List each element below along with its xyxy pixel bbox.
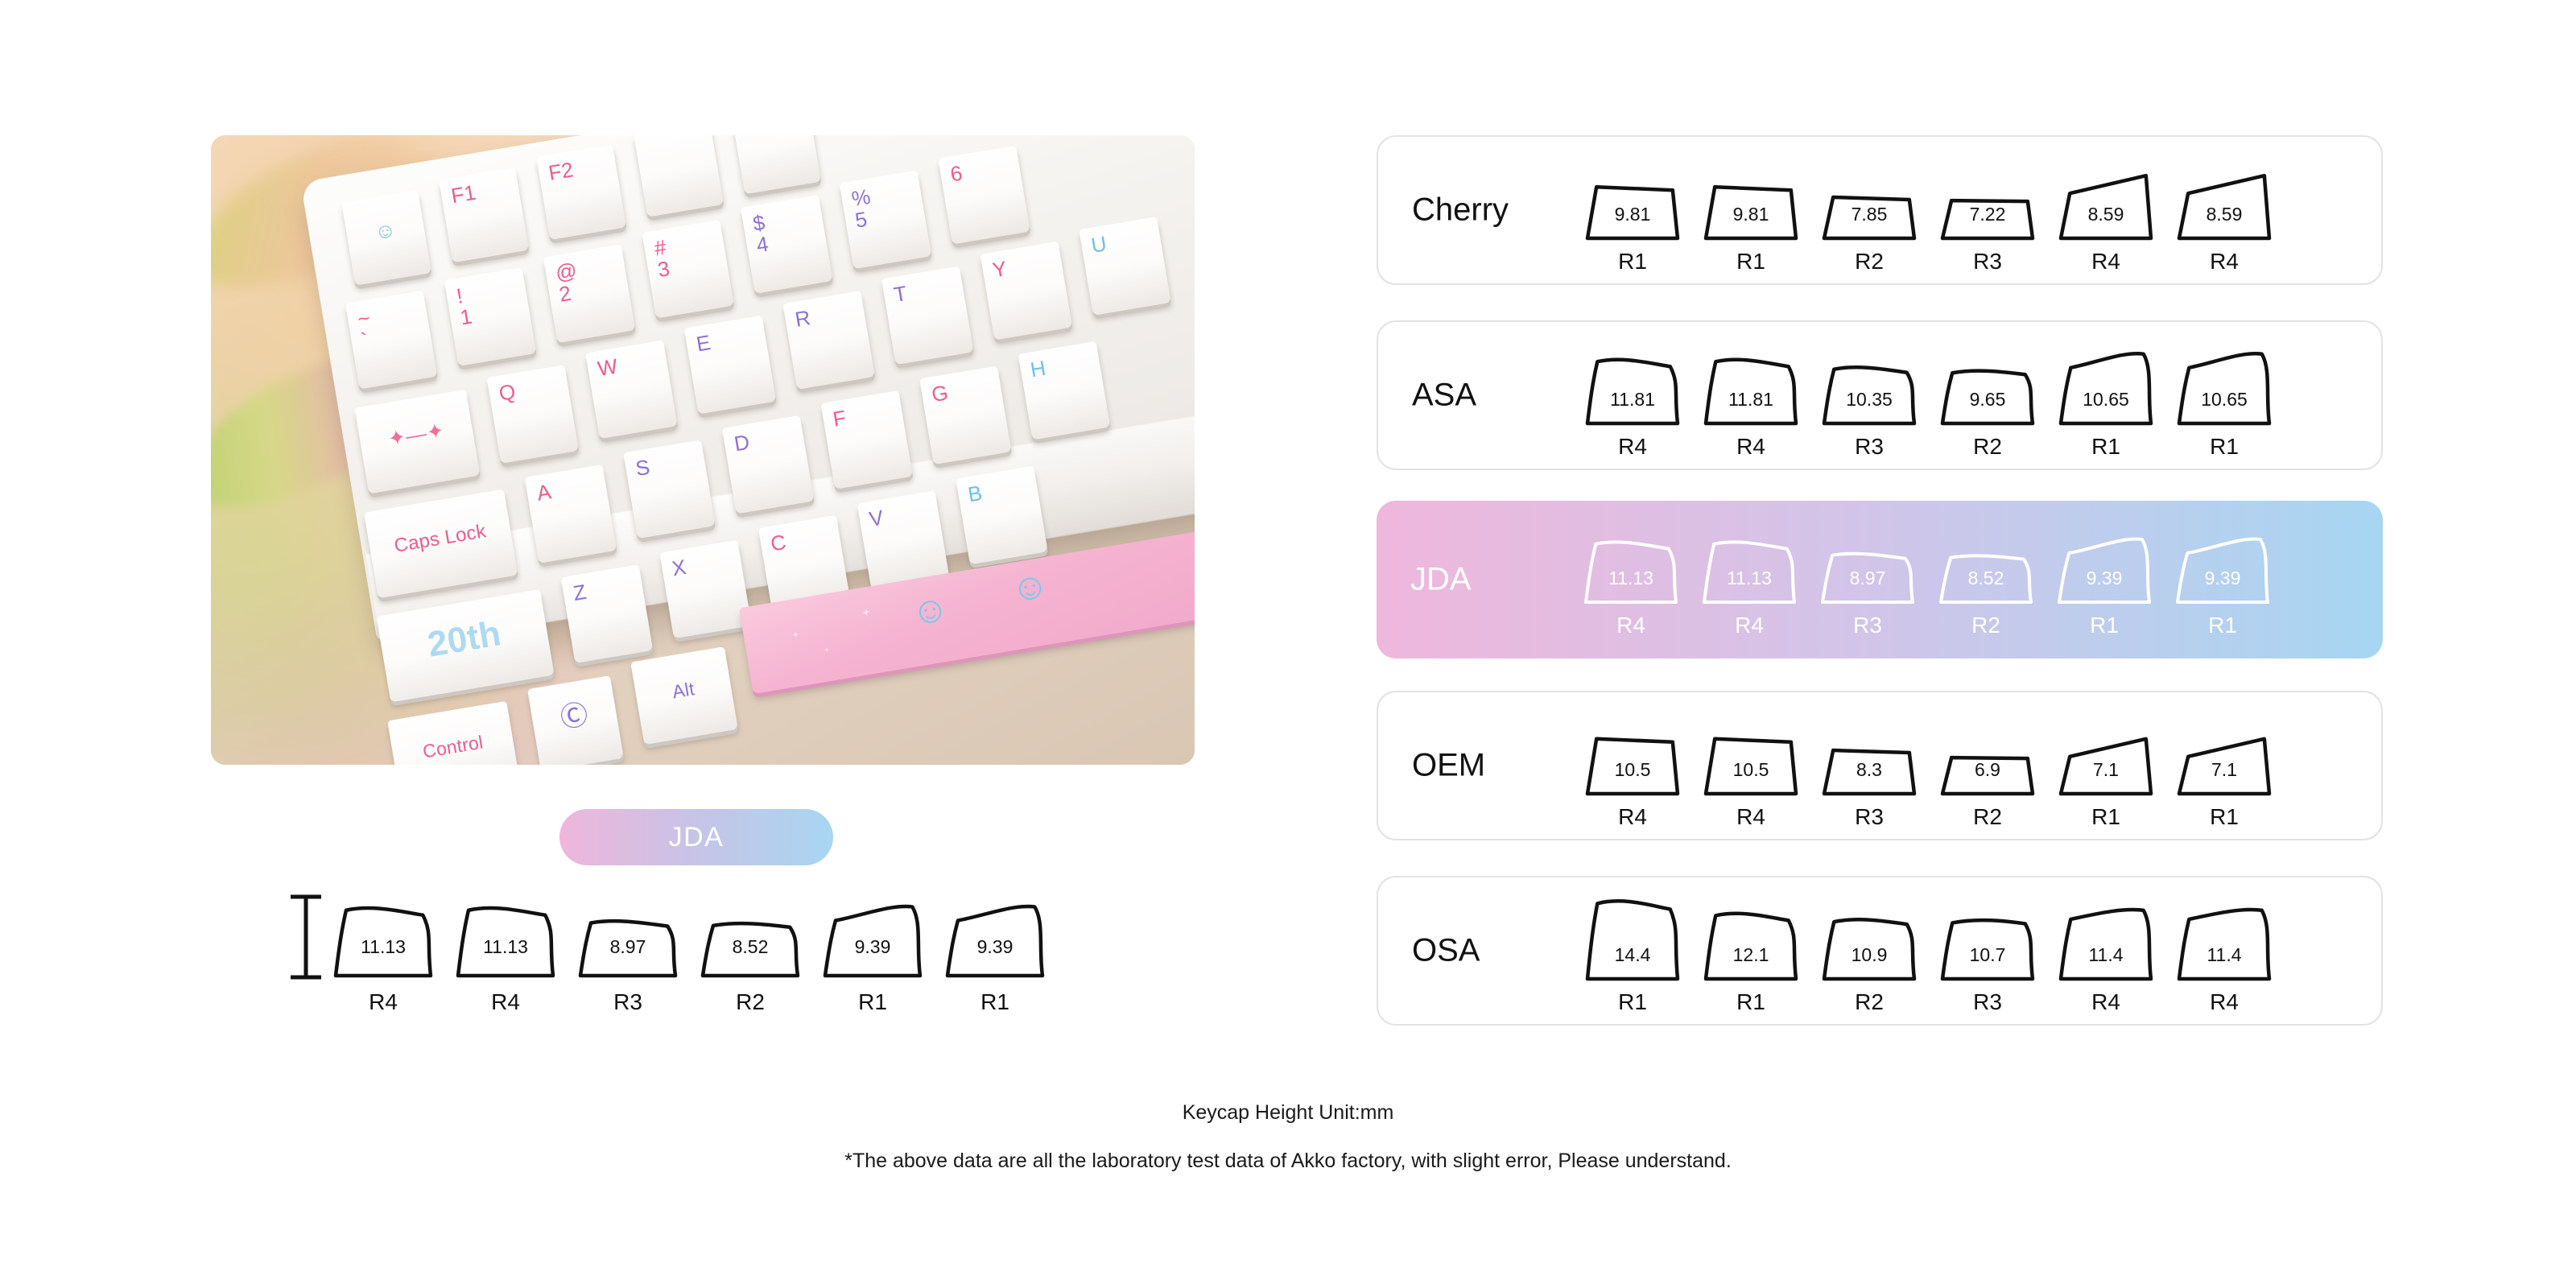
profile-keycaps-row: 10.5R410.5R48.3R36.9R27.1R17.1R1 <box>1579 704 2368 832</box>
selected-keycaps-group: 11.13R411.13R48.97R38.52R29.39R19.39R1 <box>336 906 1042 1014</box>
keycap-row-label: R4 <box>1736 434 1765 459</box>
keycap-row-label: R4 <box>1735 613 1764 638</box>
keycap-height-value: 11.13 <box>483 936 528 957</box>
keycap-height-value: 8.52 <box>733 936 769 957</box>
keycap-height-value: 14.4 <box>1615 944 1651 965</box>
keycap-height-value: 8.3 <box>1856 759 1882 780</box>
keycap-row-label: R1 <box>858 989 887 1014</box>
height-measure-ibeam <box>291 897 321 977</box>
profile-card-asa[interactable]: ASA 11.81R411.81R410.35R39.65R210.65R110… <box>1377 320 2383 470</box>
keycap-row-label: R4 <box>369 989 398 1014</box>
keycap-row-label: R3 <box>613 989 642 1014</box>
profile-keycaps-row: 9.81R19.81R17.85R27.22R38.59R48.59R4 <box>1579 148 2368 277</box>
jda-badge-label: JDA <box>669 822 724 853</box>
keycap-height-value: 8.97 <box>610 936 646 957</box>
keycap-row-label: R2 <box>1971 613 2000 638</box>
keycap-group: 14.4R112.1R110.9R210.7R311.4R411.4R4 <box>1587 901 2269 1014</box>
selected-profile-svg: 11.13R411.13R48.97R38.52R29.39R19.39R1 <box>286 877 1131 1022</box>
keycap-height-value: 10.35 <box>1846 389 1893 410</box>
profile-keycaps-row: 11.81R411.81R410.35R39.65R210.65R110.65R… <box>1579 333 2368 462</box>
keycap-row-label: R4 <box>1616 613 1645 638</box>
keyboard-product-photo: ☺ F1 F2 ~ ` ! 1 @ 2 <box>211 135 1195 765</box>
profile-card-cherry[interactable]: Cherry 9.81R19.81R17.85R27.22R38.59R48.5… <box>1377 135 2383 285</box>
keycap-row-label: R4 <box>2210 249 2239 274</box>
keycap-row-label: R2 <box>1973 434 2002 459</box>
keycap-profile-svg: 10.5R410.5R48.3R36.9R27.1R17.1R1 <box>1579 704 2368 840</box>
profile-name: OEM <box>1412 748 1589 784</box>
keycap-height-value: 9.81 <box>1733 204 1769 225</box>
keycap-height-value: 11.81 <box>1728 389 1773 410</box>
keycap-outline <box>1587 901 1678 979</box>
keycap-height-value: 7.1 <box>2211 759 2237 780</box>
keycap-row-label: R1 <box>1736 249 1765 274</box>
keycap-height-value: 7.22 <box>1970 204 2006 225</box>
profile-card-jda[interactable]: JDA 11.13R411.13R48.97R38.52R29.39R19.39… <box>1377 501 2383 658</box>
keycap-row-label: R1 <box>2090 613 2119 638</box>
profile-keycaps-row: 14.4R112.1R110.9R210.7R311.4R411.4R4 <box>1579 889 2368 1018</box>
profile-keycaps-row: 11.13R411.13R48.97R38.52R29.39R19.39R1 <box>1578 512 2367 641</box>
keycap-height-value: 8.52 <box>1968 568 2004 588</box>
keycap-row-label: R3 <box>1855 434 1884 459</box>
photo-soft-focus-overlay <box>211 135 1195 765</box>
keycap-height-value: 9.39 <box>2087 568 2123 588</box>
keycap-height-value: 8.59 <box>2088 204 2124 225</box>
keycap-height-value: 11.4 <box>2207 944 2241 965</box>
disclaimer-text: *The above data are all the laboratory t… <box>0 1150 2576 1173</box>
keycap-row-label: R1 <box>980 989 1009 1014</box>
footer-disclaimer: *The above data are all the laboratory t… <box>0 1150 2576 1173</box>
profile-card-osa[interactable]: OSA 14.4R112.1R110.9R210.7R311.4R411.4R4 <box>1377 876 2383 1026</box>
keycap-profile-svg: 9.81R19.81R17.85R27.22R38.59R48.59R4 <box>1579 148 2368 285</box>
keycap-height-value: 11.13 <box>1608 568 1653 588</box>
keycap-height-value: 9.39 <box>977 936 1013 957</box>
keycap-height-value: 10.65 <box>2201 389 2248 410</box>
keycap-row-label: R2 <box>1973 804 2002 829</box>
keycap-row-label: R4 <box>2091 249 2120 274</box>
keycap-height-value: 11.13 <box>361 936 406 957</box>
jda-profile-badge[interactable]: JDA <box>559 809 833 865</box>
keycap-group: 11.13R411.13R48.97R38.52R29.39R19.39R1 <box>1586 539 2268 638</box>
keycap-height-value: 7.1 <box>2093 759 2119 780</box>
keycap-row-label: R4 <box>2091 989 2120 1014</box>
keycap-height-value: 10.65 <box>2083 389 2129 410</box>
keycap-row-label: R4 <box>1618 434 1647 459</box>
keycap-row-label: R2 <box>1855 249 1884 274</box>
footer-unit-note: Keycap Height Unit:mm <box>0 1101 2576 1125</box>
keycap-row-label: R1 <box>2091 434 2120 459</box>
keycap-height-value: 7.85 <box>1851 204 1888 225</box>
keycap-height-value: 8.59 <box>2207 204 2243 225</box>
keycap-profile-svg: 11.81R411.81R410.35R39.65R210.65R110.65R… <box>1579 333 2368 470</box>
keycap-row-label: R1 <box>1618 249 1647 274</box>
keycap-row-label: R1 <box>2091 804 2120 829</box>
profile-comparison-column: Cherry 9.81R19.81R17.85R27.22R38.59R48.5… <box>1368 0 2576 1288</box>
keycap-height-value: 9.39 <box>2205 568 2241 588</box>
keycap-row-label: R4 <box>2210 989 2239 1014</box>
keycap-row-label: R1 <box>2210 434 2239 459</box>
keycap-profile-svg: 14.4R112.1R110.9R210.7R311.4R411.4R4 <box>1579 889 2368 1026</box>
keycap-row-label: R4 <box>491 989 520 1014</box>
keycap-height-value: 9.65 <box>1970 389 2006 410</box>
keycap-row-label: R1 <box>2210 804 2239 829</box>
keycap-height-value: 11.4 <box>2088 944 2123 965</box>
left-column: ☺ F1 F2 ~ ` ! 1 @ 2 <box>0 0 1368 1288</box>
profile-name: ASA <box>1412 378 1589 414</box>
profile-name: JDA <box>1410 562 1587 598</box>
unit-note-text: Keycap Height Unit:mm <box>0 1101 2576 1125</box>
keycap-height-value: 10.9 <box>1851 944 1888 965</box>
keycap-group: 11.81R411.81R410.35R39.65R210.65R110.65R… <box>1587 353 2269 459</box>
keycap-row-label: R1 <box>1618 989 1647 1014</box>
keycap-row-label: R2 <box>736 989 765 1014</box>
keycap-row-label: R1 <box>2208 613 2237 638</box>
keycap-height-value: 10.5 <box>1615 759 1651 780</box>
keycap-row-label: R4 <box>1618 804 1647 829</box>
keycap-profile-comparison-page: ☺ F1 F2 ~ ` ! 1 @ 2 <box>0 0 2576 1288</box>
keycap-height-value: 10.5 <box>1733 759 1769 780</box>
keycap-height-value: 9.39 <box>855 936 891 957</box>
profile-name: OSA <box>1412 933 1589 969</box>
keycap-row-label: R3 <box>1973 989 2002 1014</box>
keycap-height-value: 10.7 <box>1970 944 2006 965</box>
keycap-height-value: 11.13 <box>1727 568 1772 588</box>
profile-card-oem[interactable]: OEM 10.5R410.5R48.3R36.9R27.1R17.1R1 <box>1377 691 2383 840</box>
profile-name: Cherry <box>1412 192 1589 229</box>
keycap-row-label: R3 <box>1973 249 2002 274</box>
keycap-row-label: R1 <box>1736 989 1765 1014</box>
keycap-group: 9.81R19.81R17.85R27.22R38.59R48.59R4 <box>1587 175 2269 274</box>
selected-profile-keycap-strip: 11.13R411.13R48.97R38.52R29.39R19.39R1 <box>286 877 1131 1022</box>
keycap-height-value: 11.81 <box>1610 389 1655 410</box>
keycap-height-value: 12.1 <box>1733 944 1769 965</box>
keycap-height-value: 9.81 <box>1615 204 1651 225</box>
keycap-profile-svg: 11.13R411.13R48.97R38.52R29.39R19.39R1 <box>1578 512 2367 649</box>
keycap-row-label: R4 <box>1736 804 1765 829</box>
keycap-group: 10.5R410.5R48.3R36.9R27.1R17.1R1 <box>1587 739 2269 829</box>
keycap-row-label: R3 <box>1855 804 1884 829</box>
keycap-height-value: 6.9 <box>1975 759 2000 780</box>
keycap-row-label: R3 <box>1853 613 1882 638</box>
keycap-row-label: R2 <box>1855 989 1884 1014</box>
keycap-height-value: 8.97 <box>1850 568 1886 588</box>
